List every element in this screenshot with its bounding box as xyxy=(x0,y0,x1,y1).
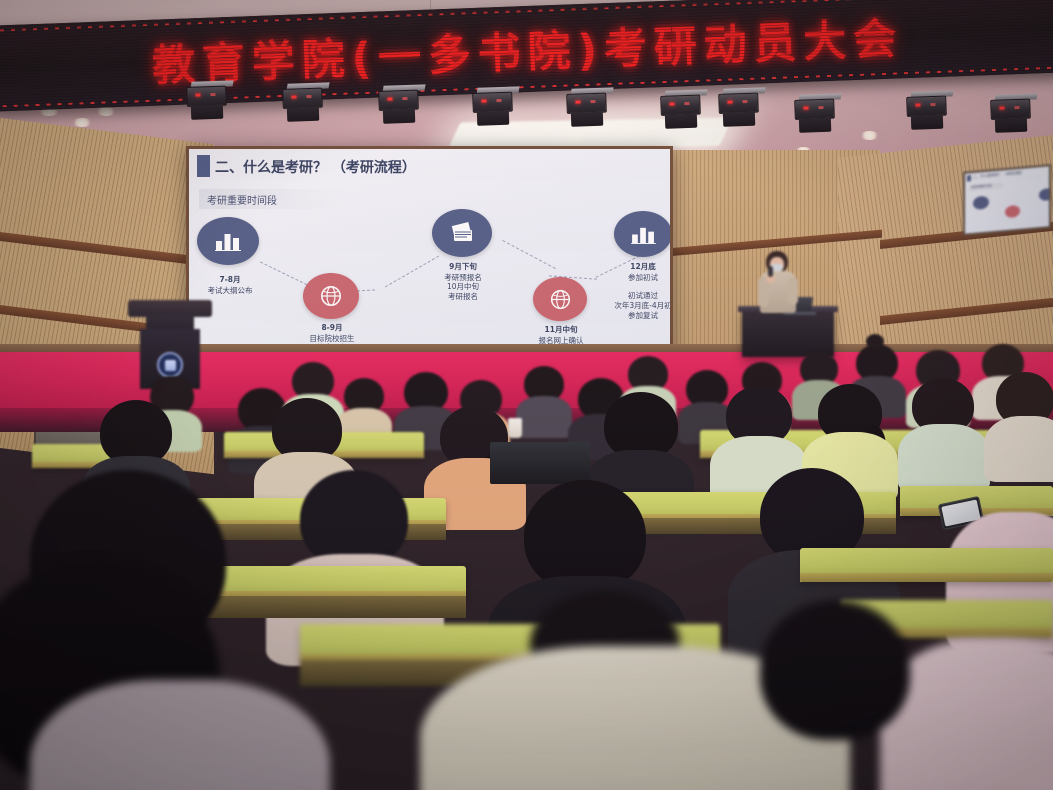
timeline-node-3 xyxy=(432,209,492,257)
desk xyxy=(800,548,1053,582)
speaker xyxy=(752,251,804,313)
speaker-arm xyxy=(788,277,798,305)
slide-title: 二、什么是考研？ （考研流程） xyxy=(215,157,416,177)
microphone xyxy=(768,266,773,277)
timeline-date-3: 9月下旬 xyxy=(425,262,501,271)
bar-chart-icon xyxy=(631,225,656,244)
globe-icon xyxy=(319,284,343,308)
downlight xyxy=(72,118,92,127)
timeline-date-4: 11月中旬 xyxy=(525,325,597,334)
side-monitor: 二、什么是考研？ （考研流程） 考研重要时间段 xyxy=(963,164,1051,236)
slide-surface: 二、什么是考研？ （考研流程） 考研重要时间段 7-8月 考试大纲公布 xyxy=(189,149,670,355)
timeline-caption-5: 参加初试 xyxy=(605,273,670,282)
timeline-node-5 xyxy=(614,211,670,257)
timeline-node-1 xyxy=(197,217,259,265)
head xyxy=(760,600,910,740)
envelope-icon xyxy=(449,222,476,244)
timeline-date-2: 8-9月 xyxy=(295,323,369,332)
bar-chart-icon xyxy=(215,231,241,251)
hair-bun xyxy=(866,334,884,349)
timeline-caption-3: 考研预报名 10月中旬 考研报名 xyxy=(421,273,505,301)
slide-accent-bar xyxy=(197,155,210,177)
ceiling-light-panel xyxy=(580,126,725,144)
downlight xyxy=(860,131,879,140)
torso xyxy=(984,416,1053,482)
side-monitor-screen: 二、什么是考研？ （考研流程） 考研重要时间段 xyxy=(965,166,1049,233)
side-monitor-node xyxy=(1039,188,1049,201)
projection-screen: 二、什么是考研？ （考研流程） 考研重要时间段 7-8月 考试大纲公布 xyxy=(186,146,673,358)
torso xyxy=(516,396,572,438)
downlight xyxy=(96,107,116,116)
torso xyxy=(898,424,990,492)
slide-section-tag: 考研重要时间段 xyxy=(199,189,347,209)
side-monitor-node xyxy=(973,196,989,210)
globe-icon xyxy=(549,288,572,311)
timeline-date-1: 7-8月 xyxy=(191,275,269,284)
lecture-hall-photo: 教育学院(一多书院)考研动员大会 xyxy=(0,0,1053,790)
drink-cup xyxy=(508,418,522,438)
timeline-node-4 xyxy=(533,277,587,321)
timeline-date-5: 12月底 xyxy=(607,262,670,271)
side-monitor-accent xyxy=(967,175,971,181)
timeline-caption-5b: 初试通过 次年3月底-4月初 参加复试 xyxy=(597,291,670,320)
timeline-connector xyxy=(502,240,555,269)
university-crest-icon xyxy=(157,352,183,378)
timeline-node-2 xyxy=(303,273,359,319)
side-monitor-title: 二、什么是考研？ （考研流程） xyxy=(973,170,1024,180)
side-monitor-node xyxy=(1005,205,1020,218)
timeline-caption-1: 考试大纲公布 xyxy=(189,286,273,295)
side-monitor-tag: 考研重要时间段 xyxy=(969,182,1003,191)
open-laptop xyxy=(490,442,590,484)
